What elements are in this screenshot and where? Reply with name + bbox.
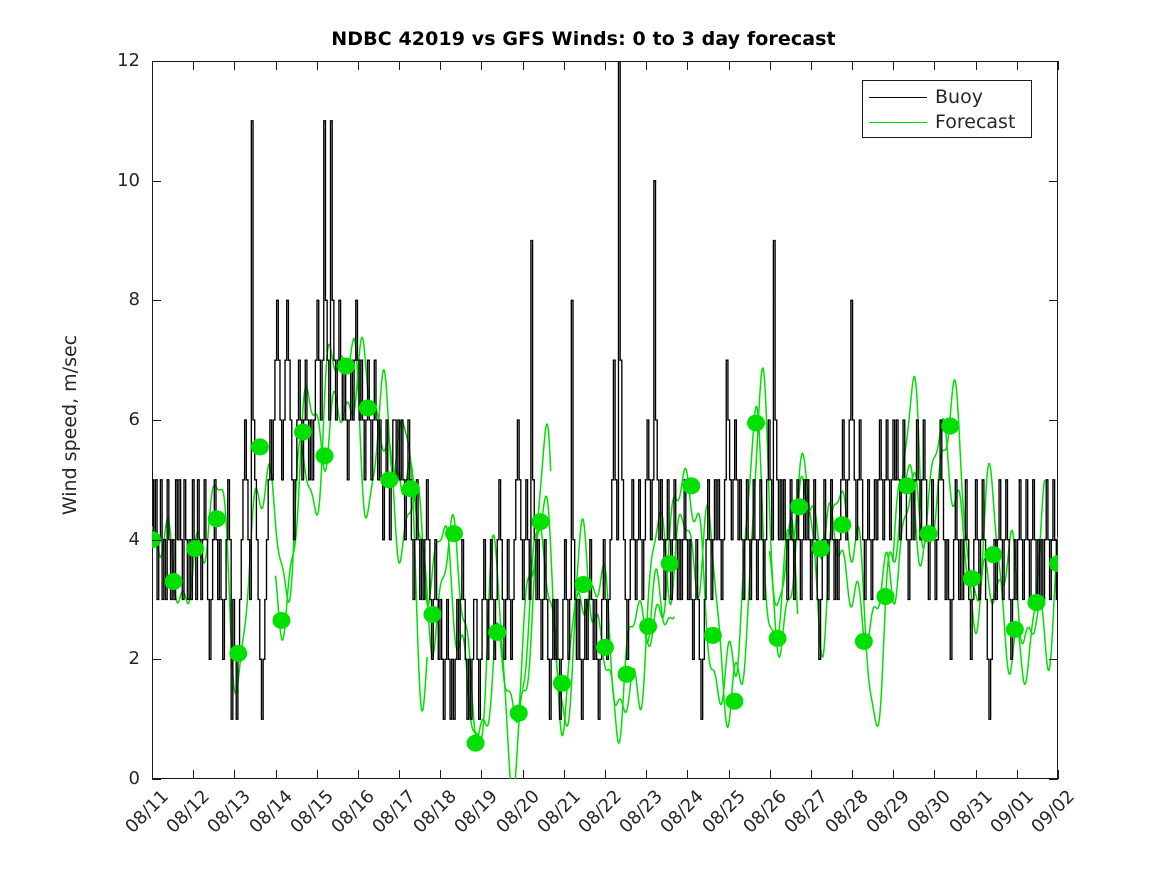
forecast-marker-point bbox=[898, 477, 916, 494]
y-tick-mark bbox=[1049, 61, 1058, 62]
x-tick-mark bbox=[1058, 61, 1059, 70]
forecast-marker-point bbox=[725, 693, 743, 710]
forecast-marker-point bbox=[596, 639, 614, 656]
forecast-marker-point bbox=[682, 477, 700, 494]
y-tick-mark bbox=[152, 779, 161, 780]
x-tick-mark bbox=[193, 770, 194, 779]
x-tick-mark bbox=[440, 61, 441, 70]
plot-canvas bbox=[152, 61, 1058, 779]
x-tick-mark bbox=[399, 770, 400, 779]
forecast-marker-point bbox=[229, 645, 247, 662]
forecast-marker-point bbox=[316, 447, 334, 464]
forecast-marker-point bbox=[402, 480, 420, 497]
y-tick-mark bbox=[1049, 540, 1058, 541]
forecast-marker-point bbox=[1049, 555, 1058, 572]
legend-item-forecast: Forecast bbox=[869, 110, 1023, 135]
y-tick-mark bbox=[1049, 181, 1058, 182]
x-tick-mark bbox=[687, 61, 688, 70]
forecast-marker-point bbox=[1006, 621, 1024, 638]
x-tick-mark bbox=[687, 770, 688, 779]
x-tick-mark bbox=[976, 61, 977, 70]
chart-figure: NDBC 42019 vs GFS Winds: 0 to 3 day fore… bbox=[0, 0, 1167, 875]
y-tick-mark bbox=[152, 540, 161, 541]
y-tick-mark bbox=[152, 420, 161, 421]
forecast-marker-point bbox=[963, 570, 981, 587]
x-tick-mark bbox=[852, 770, 853, 779]
x-tick-mark bbox=[358, 61, 359, 70]
x-tick-mark bbox=[399, 61, 400, 70]
y-tick-mark bbox=[1049, 779, 1058, 780]
x-tick-mark bbox=[1017, 770, 1018, 779]
forecast-marker-point bbox=[294, 423, 312, 440]
x-tick-mark bbox=[152, 61, 153, 70]
x-tick-mark bbox=[893, 61, 894, 70]
y-tick-mark bbox=[152, 300, 161, 301]
x-tick-mark bbox=[1017, 61, 1018, 70]
x-tick-mark bbox=[317, 61, 318, 70]
x-tick-mark bbox=[811, 61, 812, 70]
x-tick-mark bbox=[564, 61, 565, 70]
x-tick-mark bbox=[440, 770, 441, 779]
forecast-marker-point bbox=[1027, 594, 1045, 611]
forecast-marker-point bbox=[920, 525, 938, 542]
legend-label-buoy: Buoy bbox=[935, 88, 983, 107]
x-tick-mark bbox=[934, 770, 935, 779]
forecast-marker-point bbox=[833, 516, 851, 533]
forecast-marker-point bbox=[855, 633, 873, 650]
x-tick-mark bbox=[646, 770, 647, 779]
x-tick-mark bbox=[481, 61, 482, 70]
x-tick-mark bbox=[729, 61, 730, 70]
forecast-marker-point bbox=[186, 540, 204, 557]
forecast-marker-point bbox=[488, 624, 506, 641]
forecast-marker-point bbox=[251, 438, 269, 455]
y-tick-mark bbox=[1049, 300, 1058, 301]
x-tick-mark bbox=[317, 770, 318, 779]
y-tick-mark bbox=[152, 61, 161, 62]
forecast-marker-point bbox=[531, 513, 549, 530]
forecast-marker-point bbox=[790, 498, 808, 515]
forecast-marker-point bbox=[165, 573, 183, 590]
forecast-marker-point bbox=[359, 400, 377, 417]
forecast-marker-point bbox=[510, 705, 528, 722]
forecast-marker-point bbox=[661, 555, 679, 572]
x-tick-mark bbox=[523, 770, 524, 779]
x-tick-mark bbox=[564, 770, 565, 779]
forecast-marker-point bbox=[704, 627, 722, 644]
forecast-marker-point bbox=[423, 606, 441, 623]
forecast-marker-point bbox=[553, 675, 571, 692]
x-tick-mark bbox=[193, 61, 194, 70]
x-tick-mark bbox=[234, 770, 235, 779]
x-tick-mark bbox=[729, 770, 730, 779]
x-tick-mark bbox=[646, 61, 647, 70]
y-tick-mark bbox=[152, 659, 161, 660]
forecast-marker-point bbox=[337, 358, 355, 375]
legend-label-forecast: Forecast bbox=[935, 113, 1015, 132]
y-tick-mark bbox=[1049, 659, 1058, 660]
x-tick-mark bbox=[276, 770, 277, 779]
forecast-marker-point bbox=[208, 510, 226, 527]
x-tick-mark bbox=[811, 770, 812, 779]
forecast-marker-point bbox=[812, 540, 830, 557]
x-tick-mark bbox=[605, 770, 606, 779]
forecast-marker-point bbox=[574, 576, 592, 593]
legend-line-buoy-icon bbox=[869, 97, 927, 98]
forecast-marker-point bbox=[769, 630, 787, 647]
forecast-marker-point bbox=[272, 612, 290, 629]
x-tick-mark bbox=[276, 61, 277, 70]
forecast-marker-point bbox=[984, 546, 1002, 563]
x-tick-mark bbox=[770, 770, 771, 779]
legend-item-buoy: Buoy bbox=[869, 85, 1023, 110]
y-tick-mark bbox=[1049, 420, 1058, 421]
x-tick-mark bbox=[976, 770, 977, 779]
x-tick-mark bbox=[523, 61, 524, 70]
forecast-marker-point bbox=[639, 618, 657, 635]
forecast-marker-point bbox=[380, 471, 398, 488]
forecast-marker-point bbox=[876, 588, 894, 605]
y-tick-mark bbox=[152, 181, 161, 182]
x-tick-mark bbox=[152, 770, 153, 779]
x-tick-mark bbox=[893, 770, 894, 779]
x-tick-mark bbox=[770, 61, 771, 70]
legend-line-forecast-icon bbox=[869, 122, 927, 123]
forecast-marker-point bbox=[445, 525, 463, 542]
x-tick-mark bbox=[852, 61, 853, 70]
x-tick-mark bbox=[234, 61, 235, 70]
x-tick-mark bbox=[358, 770, 359, 779]
forecast-marker-point bbox=[747, 414, 765, 431]
x-tick-mark bbox=[481, 770, 482, 779]
forecast-marker-point bbox=[467, 735, 485, 752]
x-tick-mark bbox=[605, 61, 606, 70]
legend: Buoy Forecast bbox=[862, 80, 1032, 138]
forecast-marker-point bbox=[618, 666, 636, 683]
x-tick-mark bbox=[1058, 770, 1059, 779]
x-tick-mark bbox=[934, 61, 935, 70]
forecast-marker-point bbox=[941, 417, 959, 434]
